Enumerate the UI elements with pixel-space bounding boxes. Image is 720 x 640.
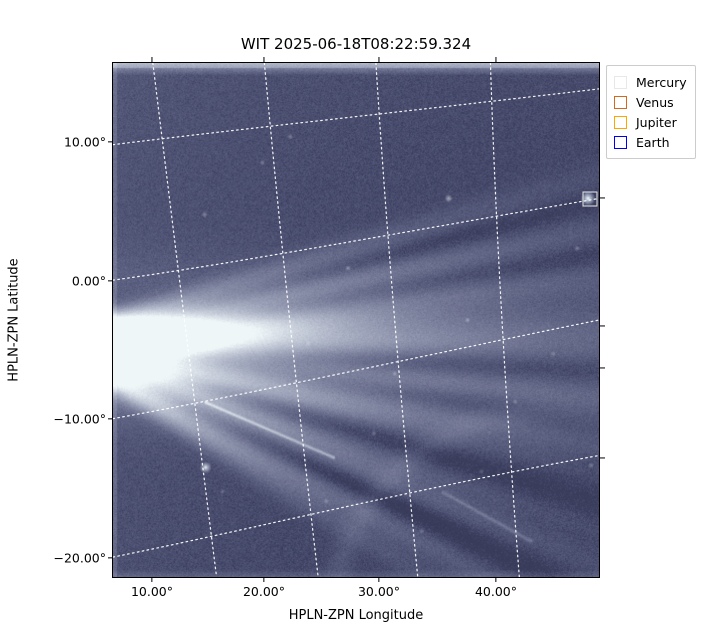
figure-canvas: WIT 2025-06-18T08:22:59.324 10.00°0.00°−… [0,0,720,640]
legend-item-earth[interactable]: Earth [614,132,687,152]
top-tick-mark [263,57,264,62]
legend-swatch-jupiter-icon [614,116,627,129]
x-tick-mark [495,578,496,582]
top-tick-mark [151,57,152,62]
y-tick-label: −10.00° [53,412,106,427]
x-tick-mark [263,578,264,582]
right-tick-mark [600,197,605,198]
top-tick-mark [495,57,496,62]
planet-marker-layer [113,63,599,577]
y-tick-mark [108,418,112,419]
top-tick-mark [378,57,379,62]
x-tick-label: 40.00° [475,584,517,599]
x-tick-mark [151,578,152,582]
legend-item-venus[interactable]: Venus [614,92,687,112]
right-tick-mark [600,457,605,458]
y-tick-mark [108,557,112,558]
legend-label: Earth [636,135,670,150]
legend-swatch-earth-icon [614,136,627,149]
y-tick-mark [108,280,112,281]
legend-label: Venus [636,95,674,110]
y-tick-label: 0.00° [72,274,106,289]
legend-item-jupiter[interactable]: Jupiter [614,112,687,132]
legend-label: Mercury [636,75,687,90]
image-axes[interactable] [112,62,600,578]
legend-item-mercury[interactable]: Mercury [614,72,687,92]
x-tick-label: 30.00° [358,584,400,599]
right-tick-mark [600,367,605,368]
legend-swatch-venus-icon [614,96,627,109]
planet-marker-mercury[interactable] [583,192,598,207]
x-axis-label: HPLN-ZPN Longitude [112,608,600,623]
right-tick-mark [600,325,605,326]
y-tick-label: −20.00° [53,551,106,566]
y-axis-label: HPLN-ZPN Latitude [7,258,22,381]
y-tick-label: 10.00° [64,135,106,150]
x-tick-label: 10.00° [131,584,173,599]
page-title: WIT 2025-06-18T08:22:59.324 [112,35,600,53]
legend-label: Jupiter [636,115,677,130]
y-tick-mark [108,141,112,142]
legend[interactable]: MercuryVenusJupiterEarth [606,65,696,159]
legend-swatch-mercury-icon [614,76,627,89]
x-tick-label: 20.00° [243,584,285,599]
x-tick-mark [378,578,379,582]
